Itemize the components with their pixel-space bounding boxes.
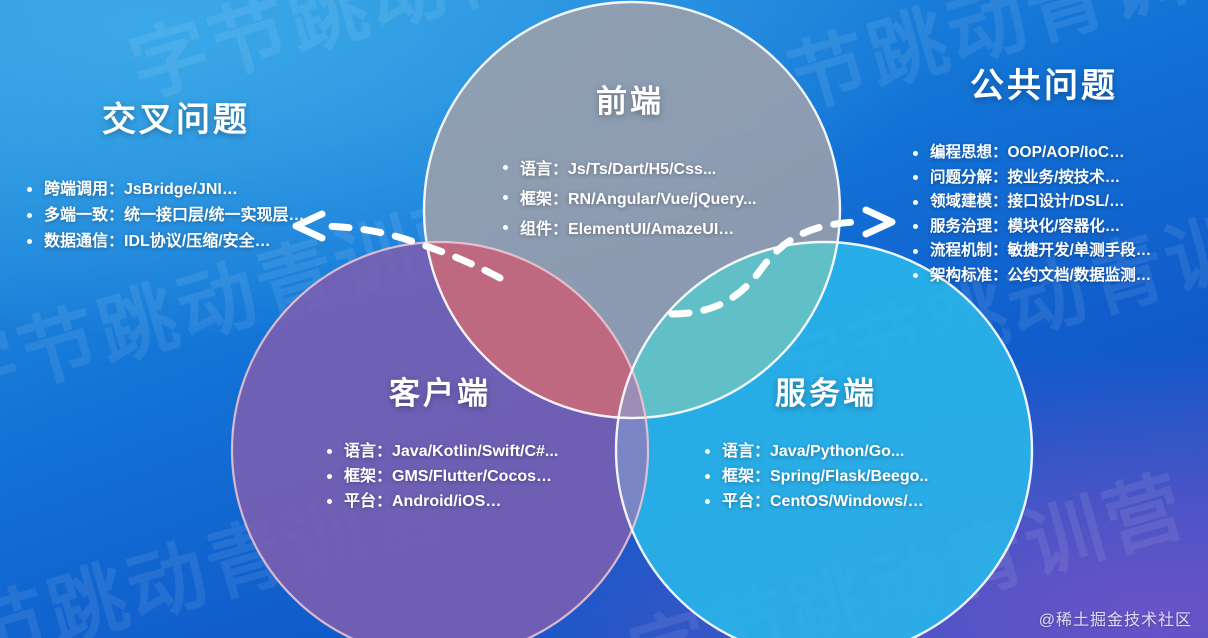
- frontend-list: 语言：Js/Ts/Dart/H5/Css... 框架：RN/Angular/Vu…: [452, 155, 808, 245]
- list-item: 语言：Java/Python/Go...: [700, 439, 976, 464]
- cross-issues-list: 跨端调用：JsBridge/JNI… 多端一致：统一接口层/统一实现层… 数据通…: [0, 177, 352, 255]
- list-item: 框架：GMS/Flutter/Cocos…: [322, 464, 590, 489]
- cross-issues-title: 交叉问题: [0, 92, 352, 141]
- server-list: 语言：Java/Python/Go... 框架：Spring/Flask/Bee…: [676, 439, 976, 514]
- list-item: 平台：CentOS/Windows/…: [700, 489, 976, 514]
- list-item: 语言：Js/Ts/Dart/H5/Css...: [498, 155, 808, 185]
- public-issues-title: 公共问题: [880, 58, 1208, 107]
- section-public-issues: 公共问题 编程思想：OOP/AOP/IoC… 问题分解：按业务/按技术… 领域建…: [880, 58, 1208, 288]
- list-item: 流程机制：敏捷开发/单测手段…: [908, 239, 1208, 264]
- client-list: 语言：Java/Kotlin/Swift/C#... 框架：GMS/Flutte…: [290, 439, 590, 514]
- server-title: 服务端: [676, 368, 976, 413]
- credit-watermark: @稀土掘金技术社区: [1039, 606, 1192, 630]
- list-item: 跨端调用：JsBridge/JNI…: [22, 177, 352, 203]
- section-frontend: 前端 语言：Js/Ts/Dart/H5/Css... 框架：RN/Angular…: [452, 76, 808, 245]
- list-item: 框架：RN/Angular/Vue/jQuery...: [498, 185, 808, 215]
- frontend-title: 前端: [452, 76, 808, 121]
- client-title: 客户端: [290, 368, 590, 413]
- slide-canvas: 字节跳动青训营 字节跳动青训营 字节跳动青训营 字节跳动青训营 字节跳动青训营 …: [0, 0, 1208, 638]
- list-item: 组件：ElementUI/AmazeUI…: [498, 215, 808, 245]
- list-item: 服务治理：模块化/容器化…: [908, 215, 1208, 240]
- list-item: 架构标准：公约文档/数据监测…: [908, 264, 1208, 289]
- list-item: 平台：Android/iOS…: [322, 489, 590, 514]
- section-cross-issues: 交叉问题 跨端调用：JsBridge/JNI… 多端一致：统一接口层/统一实现层…: [0, 92, 352, 255]
- list-item: 数据通信：IDL协议/压缩/安全…: [22, 229, 352, 255]
- public-issues-list: 编程思想：OOP/AOP/IoC… 问题分解：按业务/按技术… 领域建模：接口设…: [880, 141, 1208, 288]
- list-item: 问题分解：按业务/按技术…: [908, 166, 1208, 191]
- section-client: 客户端 语言：Java/Kotlin/Swift/C#... 框架：GMS/Fl…: [290, 368, 590, 514]
- list-item: 框架：Spring/Flask/Beego..: [700, 464, 976, 489]
- list-item: 领域建模：接口设计/DSL/…: [908, 190, 1208, 215]
- section-server: 服务端 语言：Java/Python/Go... 框架：Spring/Flask…: [676, 368, 976, 514]
- list-item: 编程思想：OOP/AOP/IoC…: [908, 141, 1208, 166]
- list-item: 多端一致：统一接口层/统一实现层…: [22, 203, 352, 229]
- list-item: 语言：Java/Kotlin/Swift/C#...: [322, 439, 590, 464]
